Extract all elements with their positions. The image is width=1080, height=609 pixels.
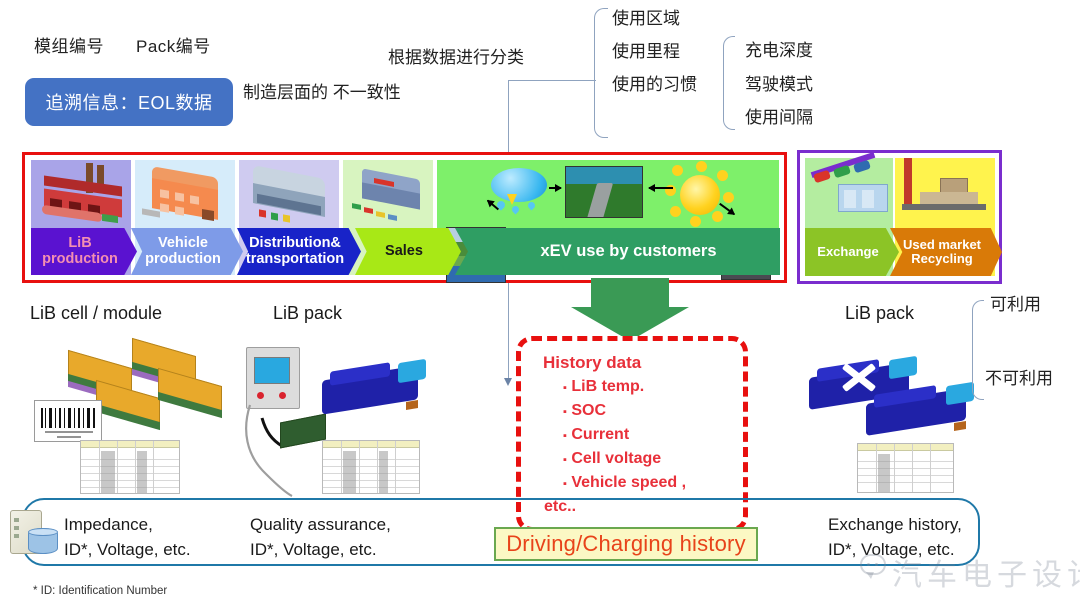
history-item-vehicle-speed: ▪ Vehicle speed , bbox=[563, 474, 686, 492]
pack-data-sheet-thumbnail bbox=[322, 440, 420, 494]
chevron-exchange-label: Exchange bbox=[817, 245, 878, 259]
lib-pack-middle-illustration bbox=[318, 355, 438, 427]
sales-dealership-illustration bbox=[350, 172, 432, 226]
not-usable-label: 不可利用 bbox=[985, 368, 1053, 391]
cell-data-sheet-thumbnail bbox=[80, 440, 180, 494]
pack-id-label: Pack编号 bbox=[136, 32, 211, 57]
chevron-vehicle-production[interactable]: Vehicle production bbox=[131, 228, 243, 275]
watermark-text: 汽车电子设计 bbox=[892, 550, 1080, 594]
history-item-current-label: Current bbox=[571, 426, 629, 443]
driving-charging-history-banner[interactable]: Driving/Charging history bbox=[494, 527, 758, 561]
sun-ray-icon bbox=[696, 161, 707, 172]
watermark: 汽车电子设计 bbox=[860, 548, 1075, 592]
history-item-soc: ▪ SOC bbox=[563, 402, 606, 420]
bottom-left-data-label: Impedance, ID*, Voltage, etc. bbox=[64, 513, 191, 562]
tester-button-icon bbox=[279, 392, 286, 399]
driving-mode-label: 驾驶模式 bbox=[745, 74, 813, 97]
sun-icon bbox=[680, 175, 720, 215]
usage-interval-label: 使用间隔 bbox=[745, 107, 813, 130]
chat-bubble-icon bbox=[860, 554, 886, 575]
sun-ray-icon bbox=[690, 216, 701, 227]
usage-group-bracket bbox=[594, 8, 608, 138]
cloud-to-road-arrow-icon bbox=[549, 187, 561, 189]
tester-cable bbox=[240, 400, 320, 500]
chevron-sales-label: Sales bbox=[385, 244, 423, 259]
distribution-warehouse-illustration bbox=[245, 168, 337, 226]
history-item-cell-voltage: ▪ Cell voltage bbox=[563, 450, 661, 468]
history-item-soc-label: SOC bbox=[571, 402, 606, 419]
chevron-lib-production[interactable]: LiB production bbox=[31, 228, 137, 275]
chevron-exchange[interactable]: Exchange bbox=[805, 228, 899, 276]
chevron-used-market-recycling-label: Used market Recycling bbox=[903, 238, 981, 265]
sun-ray-icon bbox=[723, 192, 734, 203]
tester-button-icon bbox=[257, 392, 264, 399]
caption-lib-pack-middle: LiB pack bbox=[273, 303, 342, 324]
manufacturing-inconsistency-note: 制造层面的 不一致性 bbox=[243, 82, 401, 105]
rain-cloud-icon bbox=[491, 168, 547, 202]
history-item-lib-temp: ▪ LiB temp. bbox=[563, 378, 644, 396]
usage-mileage-label: 使用里程 bbox=[612, 41, 680, 64]
history-item-cell-voltage-label: Cell voltage bbox=[571, 450, 661, 467]
chevron-lib-production-label: LiB production bbox=[42, 236, 118, 266]
chevron-distribution-transportation-label: Distribution& transportation bbox=[246, 236, 344, 266]
tester-screen bbox=[254, 357, 290, 384]
right-pack-data-sheet-thumbnail bbox=[857, 443, 954, 493]
recycling-plant-illustration bbox=[898, 158, 993, 220]
chevron-distribution-transportation[interactable]: Distribution& transportation bbox=[237, 228, 361, 275]
sun-to-road-arrow-icon bbox=[649, 187, 673, 189]
history-data-title: History data bbox=[543, 353, 641, 373]
lightning-icon bbox=[507, 194, 517, 205]
database-server-icon bbox=[8, 506, 64, 562]
chevron-xev-use-label: xEV use by customers bbox=[540, 243, 716, 260]
chevron-xev-use[interactable]: xEV use by customers bbox=[455, 228, 780, 275]
caption-lib-pack-right: LiB pack bbox=[845, 303, 914, 324]
classify-connector-horizontal bbox=[508, 80, 596, 81]
exchange-illustration bbox=[808, 158, 892, 220]
usability-bracket bbox=[972, 300, 984, 400]
history-item-vehicle-speed-label: Vehicle speed , bbox=[571, 474, 686, 491]
lib-plant-illustration bbox=[36, 163, 130, 229]
habit-group-bracket bbox=[723, 36, 735, 130]
module-id-label: 模组编号 bbox=[34, 32, 104, 57]
history-item-current: ▪ Current bbox=[563, 426, 629, 444]
classify-by-data-note: 根据数据进行分类 bbox=[388, 47, 524, 70]
barcode-label bbox=[34, 400, 102, 442]
classify-connector-arrowhead-icon bbox=[504, 378, 512, 386]
charge-depth-label: 充电深度 bbox=[745, 40, 813, 63]
chevron-used-market-recycling[interactable]: Used market Recycling bbox=[890, 228, 1002, 276]
vehicle-plant-illustration bbox=[142, 166, 232, 228]
green-down-arrow-stem bbox=[591, 278, 669, 308]
caption-lib-cell-module: LiB cell / module bbox=[30, 303, 162, 324]
sun-ray-icon bbox=[672, 165, 683, 176]
id-footnote: * ID: Identification Number bbox=[33, 585, 167, 597]
history-item-lib-temp-label: LiB temp. bbox=[571, 378, 644, 395]
usage-habit-label: 使用的习惯 bbox=[612, 74, 697, 97]
road-photo bbox=[565, 166, 643, 218]
sun-ray-icon bbox=[712, 211, 723, 222]
eol-trace-badge[interactable]: 追溯信息：EOL数据 bbox=[25, 78, 233, 126]
usage-area-label: 使用区域 bbox=[612, 8, 680, 31]
chevron-vehicle-production-label: Vehicle production bbox=[145, 236, 221, 266]
sun-ray-icon bbox=[670, 206, 681, 217]
bottom-middle-data-label: Quality assurance, ID*, Voltage, etc. bbox=[250, 513, 391, 562]
sun-ray-icon bbox=[717, 170, 728, 181]
chevron-sales[interactable]: Sales bbox=[355, 228, 461, 275]
usable-label: 可利用 bbox=[990, 294, 1041, 317]
